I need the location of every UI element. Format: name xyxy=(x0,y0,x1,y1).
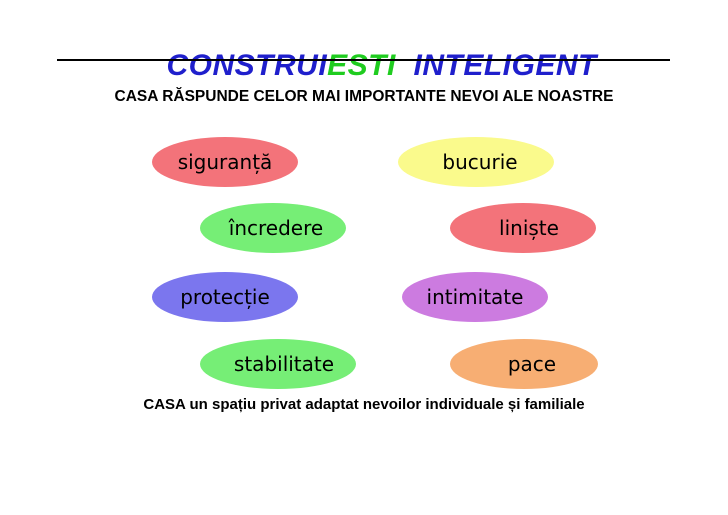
bubble-stabilitate-label: stabilitate xyxy=(234,354,334,374)
bubble-bucurie: bucurie xyxy=(398,137,554,187)
bubble-incredere: încredere xyxy=(200,203,346,253)
bubble-pace: pace xyxy=(450,339,598,389)
bubble-liniste: liniște xyxy=(450,203,596,253)
bubble-intimitate: intimitate xyxy=(402,272,548,322)
bubble-liniste-label: liniște xyxy=(499,218,559,238)
title-part-esti: ESTI xyxy=(327,49,396,82)
footer-note-text: CASA un spațiu privat adaptat nevoilor i… xyxy=(0,396,728,413)
bubble-incredere-label: încredere xyxy=(229,218,323,238)
bubble-intimitate-label: intimitate xyxy=(427,287,524,307)
title-part-inteligent: INTELIGENT xyxy=(414,49,597,82)
bubble-siguranta: siguranță xyxy=(152,137,298,187)
bubble-stabilitate: stabilitate xyxy=(200,339,356,389)
slide-canvas: CONSTRUIESTI INTELIGENT CASA RĂSPUNDE CE… xyxy=(0,0,728,515)
bubble-protectie-label: protecție xyxy=(180,287,270,307)
title-separator xyxy=(396,49,414,82)
title-part-construi: CONSTRUI xyxy=(166,49,327,82)
bubble-protectie: protecție xyxy=(152,272,298,322)
bubble-siguranta-label: siguranță xyxy=(178,152,273,172)
bubble-pace-label: pace xyxy=(508,354,556,374)
title-divider-rule xyxy=(57,59,670,61)
bubble-bucurie-label: bucurie xyxy=(442,152,517,172)
headline-text: CASA RĂSPUNDE CELOR MAI IMPORTANTE NEVOI… xyxy=(0,88,728,106)
